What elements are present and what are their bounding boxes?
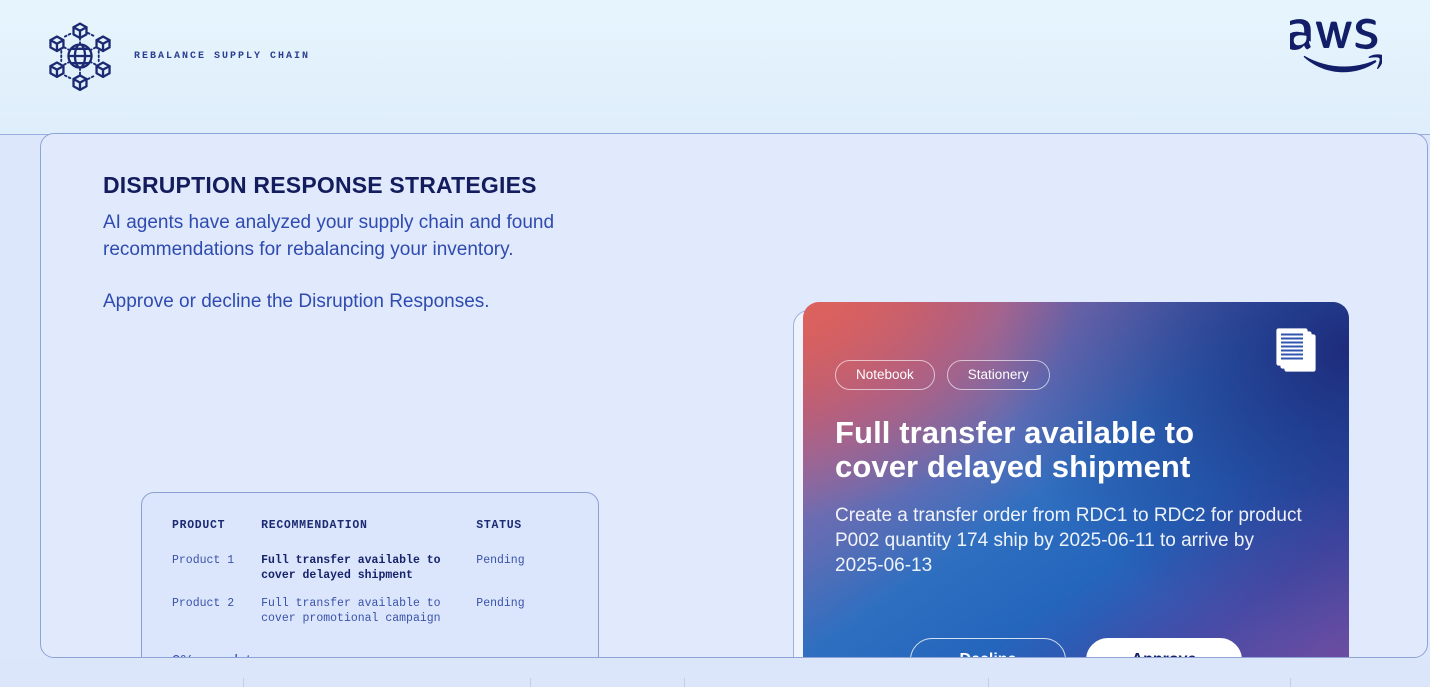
tag-subcategory[interactable]: Stationery bbox=[947, 360, 1050, 390]
cell-status: Pending bbox=[476, 554, 568, 597]
tag-category[interactable]: Notebook bbox=[835, 360, 935, 390]
table-header-row: PRODUCT RECOMMENDATION STATUS bbox=[172, 519, 568, 554]
page-header: REBALANCE SUPPLY CHAIN bbox=[0, 0, 1430, 135]
footer-tick bbox=[1290, 678, 1291, 687]
decline-button[interactable]: Decline bbox=[910, 638, 1066, 658]
brand-lockup: REBALANCE SUPPLY CHAIN bbox=[44, 20, 310, 92]
card-description: Create a transfer order from RDC1 to RDC… bbox=[835, 503, 1305, 579]
main-panel: DISRUPTION RESPONSE STRATEGIES AI agents… bbox=[40, 133, 1428, 658]
instruction-text: Approve or decline the Disruption Respon… bbox=[103, 289, 703, 315]
cell-recommendation: Full transfer available to cover delayed… bbox=[261, 554, 476, 597]
footer-tick bbox=[988, 678, 989, 687]
approve-button[interactable]: Approve bbox=[1086, 638, 1242, 658]
app-screen: REBALANCE SUPPLY CHAIN DISRUPTION RESPON… bbox=[0, 0, 1430, 687]
card-actions: Decline Approve bbox=[803, 638, 1349, 658]
recommendation-card-stack: Notebook Stationery Full transfer availa… bbox=[793, 302, 1349, 658]
cell-product: Product 1 bbox=[172, 554, 261, 597]
cell-product: Product 2 bbox=[172, 597, 261, 640]
column-header-recommendation: RECOMMENDATION bbox=[261, 519, 476, 554]
brand-name: REBALANCE SUPPLY CHAIN bbox=[134, 51, 310, 62]
page-footer-strip bbox=[0, 658, 1430, 687]
card-title: Full transfer available to cover delayed… bbox=[835, 416, 1235, 485]
table-row[interactable]: Product 1 Full transfer available to cov… bbox=[172, 554, 568, 597]
footer-tick bbox=[243, 678, 244, 687]
intro-text: AI agents have analyzed your supply chai… bbox=[103, 210, 633, 262]
cell-status: Pending bbox=[476, 597, 568, 640]
recommendations-card: PRODUCT RECOMMENDATION STATUS Product 1 … bbox=[141, 492, 599, 658]
footer-tick bbox=[684, 678, 685, 687]
recommendations-table: PRODUCT RECOMMENDATION STATUS Product 1 … bbox=[172, 519, 568, 641]
recommendation-card: Notebook Stationery Full transfer availa… bbox=[803, 302, 1349, 658]
cell-recommendation: Full transfer available to cover promoti… bbox=[261, 597, 476, 640]
footer-tick bbox=[530, 678, 531, 687]
table-row[interactable]: Product 2 Full transfer available to cov… bbox=[172, 597, 568, 640]
left-column: DISRUPTION RESPONSE STRATEGIES AI agents… bbox=[103, 172, 703, 345]
column-header-status: STATUS bbox=[476, 519, 568, 554]
page-title: DISRUPTION RESPONSE STRATEGIES bbox=[103, 172, 703, 198]
column-header-product: PRODUCT bbox=[172, 519, 261, 554]
supply-chain-globe-icon bbox=[44, 20, 116, 92]
tag-list: Notebook Stationery bbox=[835, 360, 1317, 390]
